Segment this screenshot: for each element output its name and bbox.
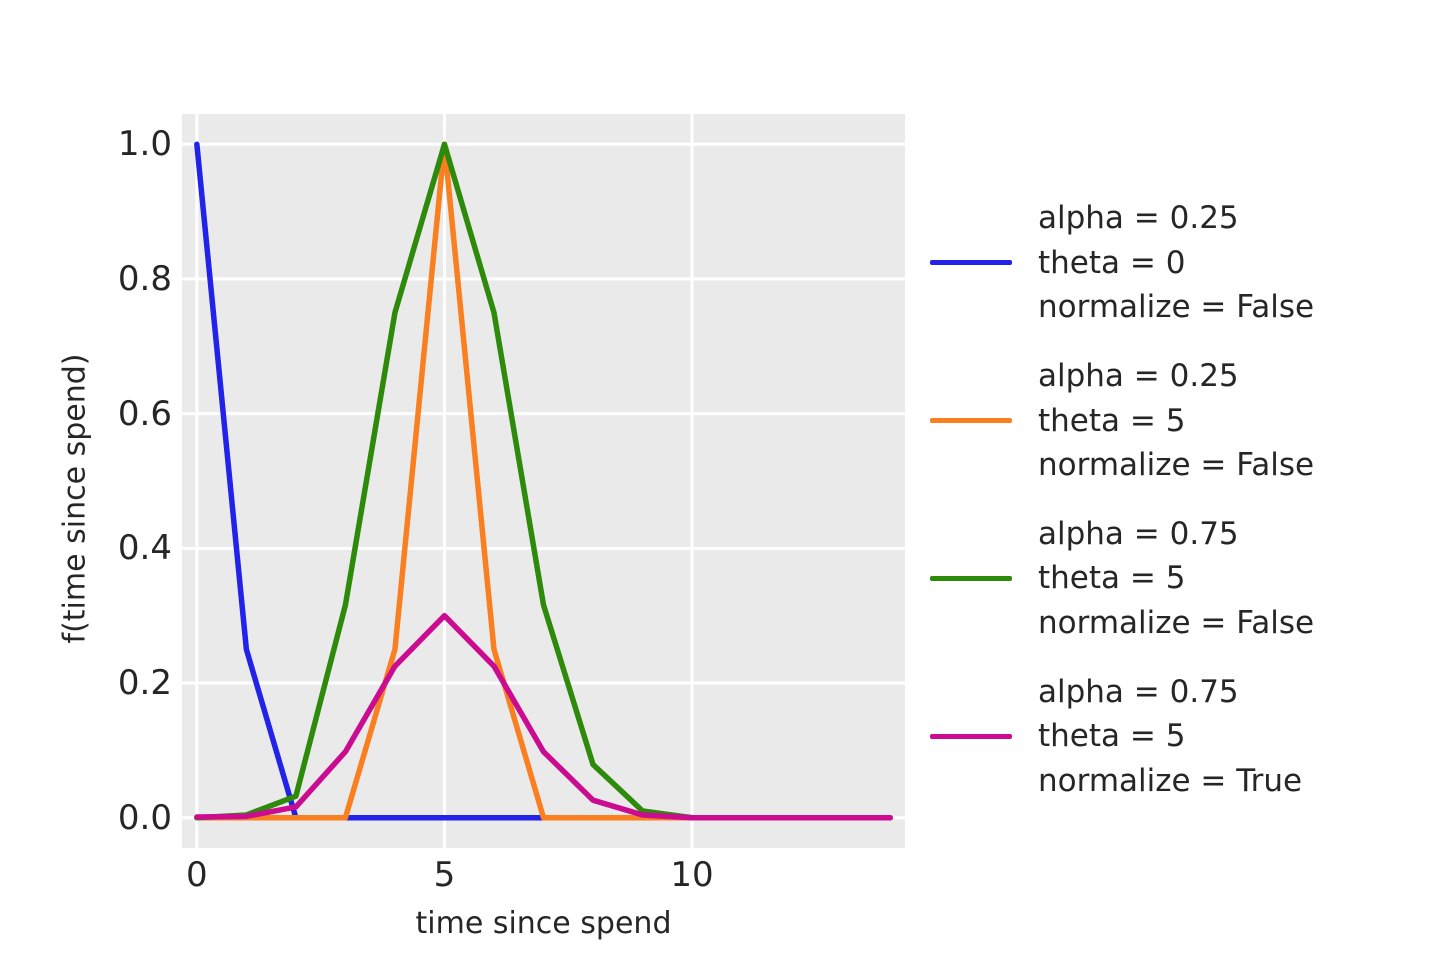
- legend-entry-label: alpha = 0.25 theta = 0 normalize = False: [1038, 196, 1314, 330]
- x-tick-label: 0: [186, 858, 208, 892]
- data-series-line: [197, 144, 890, 817]
- legend-entry-label: alpha = 0.75 theta = 5 normalize = True: [1038, 670, 1302, 804]
- y-tick-label: 0.8: [82, 262, 172, 296]
- legend-entry[interactable]: alpha = 0.75 theta = 5 normalize = True: [930, 670, 1430, 804]
- x-axis-label: time since spend: [182, 906, 905, 941]
- legend-entry[interactable]: alpha = 0.75 theta = 5 normalize = False: [930, 512, 1430, 646]
- y-axis-tick-labels: 0.00.20.40.60.81.0: [92, 114, 172, 848]
- legend-entry-label: alpha = 0.25 theta = 5 normalize = False: [1038, 354, 1314, 488]
- legend-color-swatch: [930, 418, 1012, 423]
- x-tick-label: 5: [434, 858, 456, 892]
- legend-entry[interactable]: alpha = 0.25 theta = 5 normalize = False: [930, 354, 1430, 488]
- data-lines: [197, 144, 890, 817]
- legend-entry-label: alpha = 0.75 theta = 5 normalize = False: [1038, 512, 1314, 646]
- figure-canvas: 0.00.20.40.60.81.0 0510 time since spend…: [0, 0, 1440, 960]
- plot-axes-area: [182, 114, 905, 848]
- legend-entry[interactable]: alpha = 0.25 theta = 0 normalize = False: [930, 196, 1430, 330]
- data-series-line: [197, 144, 890, 817]
- legend-color-swatch: [930, 260, 1012, 265]
- x-tick-label: 10: [670, 858, 713, 892]
- legend-color-swatch: [930, 576, 1012, 581]
- y-tick-label: 1.0: [82, 127, 172, 161]
- legend: alpha = 0.25 theta = 0 normalize = False…: [930, 196, 1430, 828]
- y-tick-label: 0.6: [82, 397, 172, 431]
- x-axis-tick-labels: 0510: [182, 858, 905, 902]
- gridlines: [182, 114, 905, 848]
- y-axis-label: f(time since spend): [58, 132, 93, 866]
- y-tick-label: 0.4: [82, 531, 172, 565]
- y-tick-label: 0.2: [82, 666, 172, 700]
- legend-color-swatch: [930, 734, 1012, 739]
- data-series-line: [197, 144, 890, 817]
- y-tick-label: 0.0: [82, 801, 172, 835]
- plot-svg: [182, 114, 905, 848]
